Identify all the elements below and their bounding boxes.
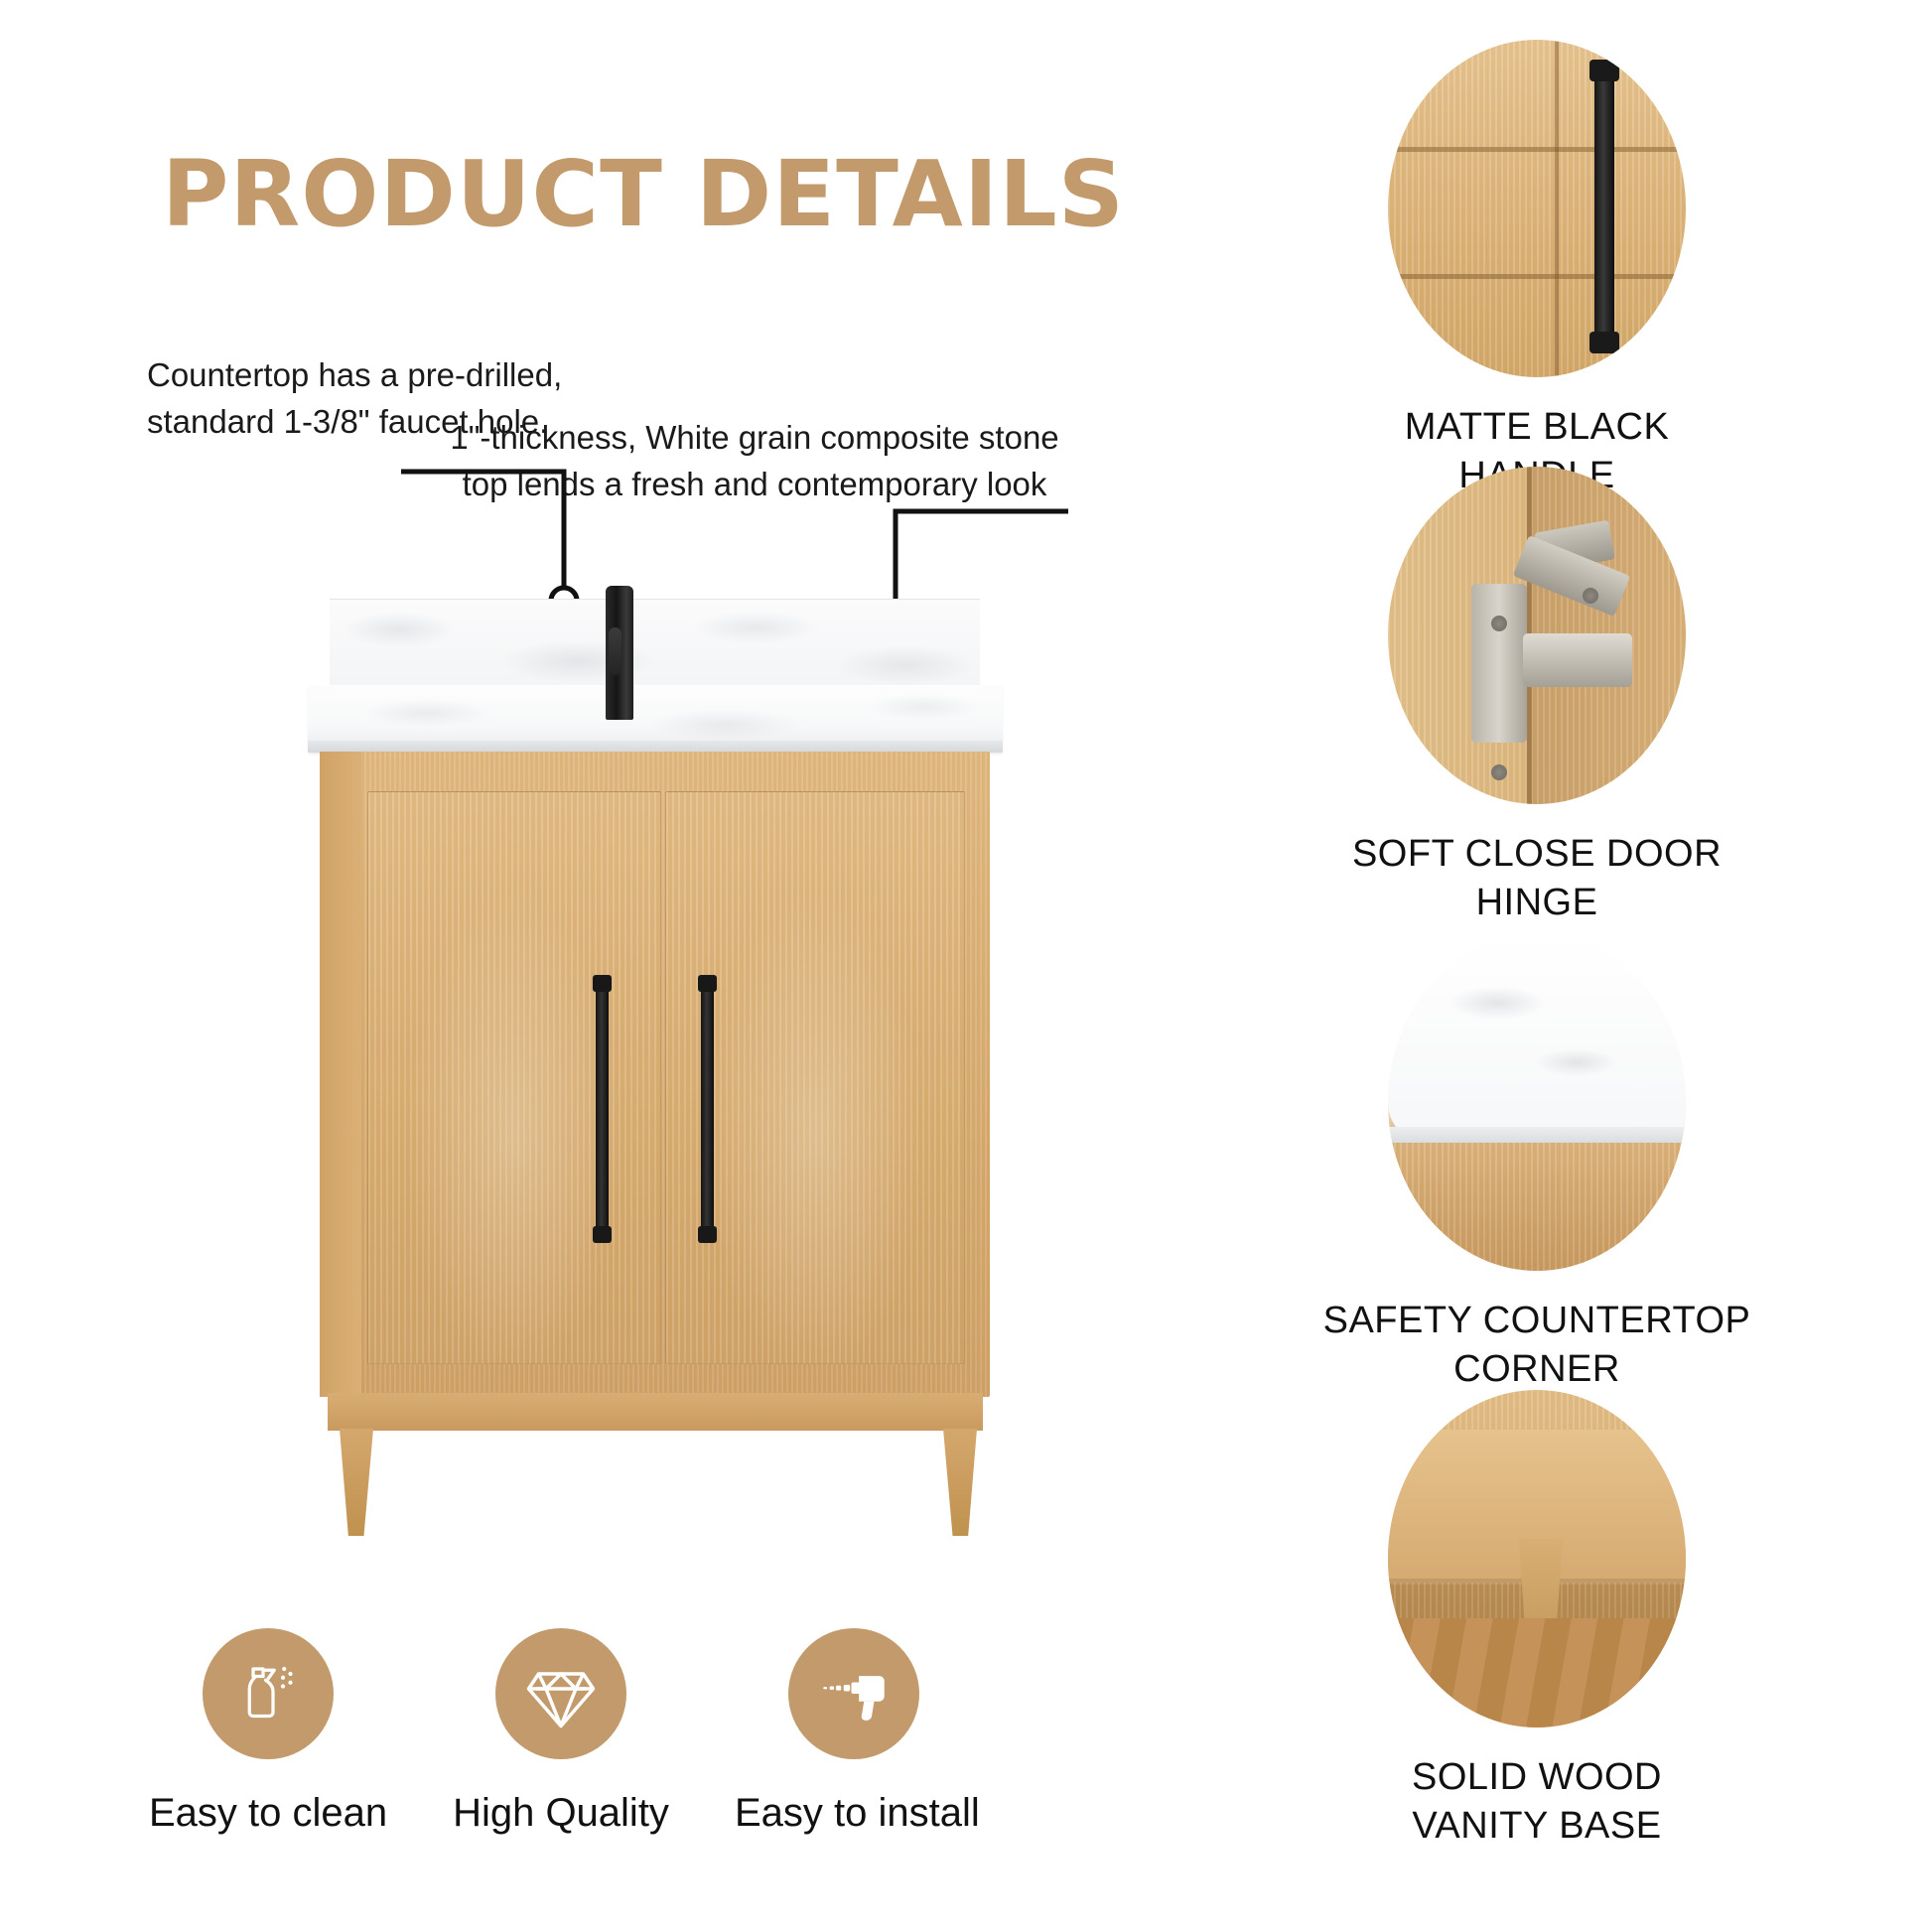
feature-badge-label: High Quality — [442, 1791, 680, 1836]
cabinet-door-left — [367, 791, 661, 1364]
vanity-base-leg-photo — [1388, 1390, 1686, 1727]
detail-thumbnail-rail: MATTE BLACK HANDLE SOFT CLOSE DOOR HINGE… — [1142, 0, 1932, 1932]
countertop-slab — [308, 685, 1003, 753]
rail-item-solid-wood-vanity-base: SOLID WOOD VANITY BASE — [1142, 1390, 1932, 1850]
diamond-icon — [495, 1628, 626, 1759]
cabinet-plinth — [328, 1393, 983, 1431]
countertop-backsplash — [330, 599, 980, 694]
vanity-cabinet — [320, 752, 990, 1397]
door-handle-left — [596, 985, 609, 1233]
cabinet-side-panel — [320, 752, 361, 1397]
rail-item-label: SAFETY COUNTERTOP CORNER — [1142, 1297, 1932, 1393]
spray-bottle-icon — [203, 1628, 334, 1759]
drill-icon — [788, 1628, 919, 1759]
rail-item-label: SOFT CLOSE DOOR HINGE — [1142, 830, 1932, 926]
countertop-corner-photo — [1388, 933, 1686, 1271]
rail-item-matte-black-handle: MATTE BLACK HANDLE — [1142, 40, 1932, 499]
faucet — [606, 586, 633, 720]
vanity-product-image: Single sink bathroom vanity with white o… — [298, 581, 1013, 1534]
rail-item-safety-countertop-corner: SAFETY COUNTERTOP CORNER — [1142, 933, 1932, 1393]
door-handle-right — [701, 985, 714, 1233]
product-details-infographic: PRODUCT DETAILS Countertop has a pre-dri… — [0, 0, 1932, 1932]
soft-close-hinge-photo — [1388, 467, 1686, 804]
feature-badge-high-quality: High Quality — [442, 1628, 680, 1836]
page-title: PRODUCT DETAILS — [162, 141, 1125, 247]
rail-item-soft-close-hinge: SOFT CLOSE DOOR HINGE — [1142, 467, 1932, 926]
product-image-alt: Single sink bathroom vanity with white o… — [298, 581, 299, 582]
feature-badge-label: Easy to install — [735, 1791, 973, 1836]
matte-black-handle-photo — [1388, 40, 1686, 377]
rail-item-label: SOLID WOOD VANITY BASE — [1142, 1753, 1932, 1850]
vanity-leg-left — [340, 1429, 373, 1536]
vanity-leg-right — [943, 1429, 977, 1536]
feature-badge-row: Easy to clean High Quality — [149, 1628, 1023, 1896]
callout-stone-top-text: 1"-thickness, White grain composite ston… — [450, 415, 1058, 508]
feature-badge-easy-to-clean: Easy to clean — [149, 1628, 387, 1836]
feature-badge-label: Easy to clean — [149, 1791, 387, 1836]
feature-badge-easy-to-install: Easy to install — [735, 1628, 973, 1836]
